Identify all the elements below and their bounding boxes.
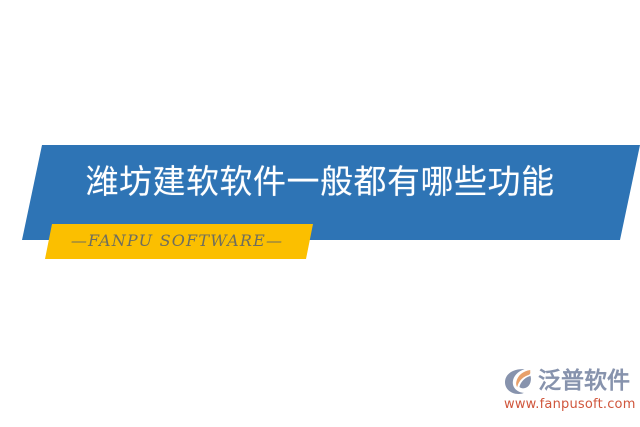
logo-wordmark: 泛普软件 <box>538 368 630 395</box>
slide-canvas: 潍坊建软软件一般都有哪些功能 —FANPU SOFTWARE— 泛普软件 www… <box>0 0 640 427</box>
page-title: 潍坊建软软件一般都有哪些功能 <box>0 162 640 202</box>
fanpu-logo: 泛普软件 www.fanpusoft.com <box>503 366 637 418</box>
logo-lockup: 泛普软件 <box>503 366 630 396</box>
brand-tagline: —FANPU SOFTWARE— <box>52 231 302 251</box>
logo-website-url: www.fanpusoft.com <box>504 397 636 413</box>
fanpu-crescent-logo-icon <box>503 366 534 396</box>
